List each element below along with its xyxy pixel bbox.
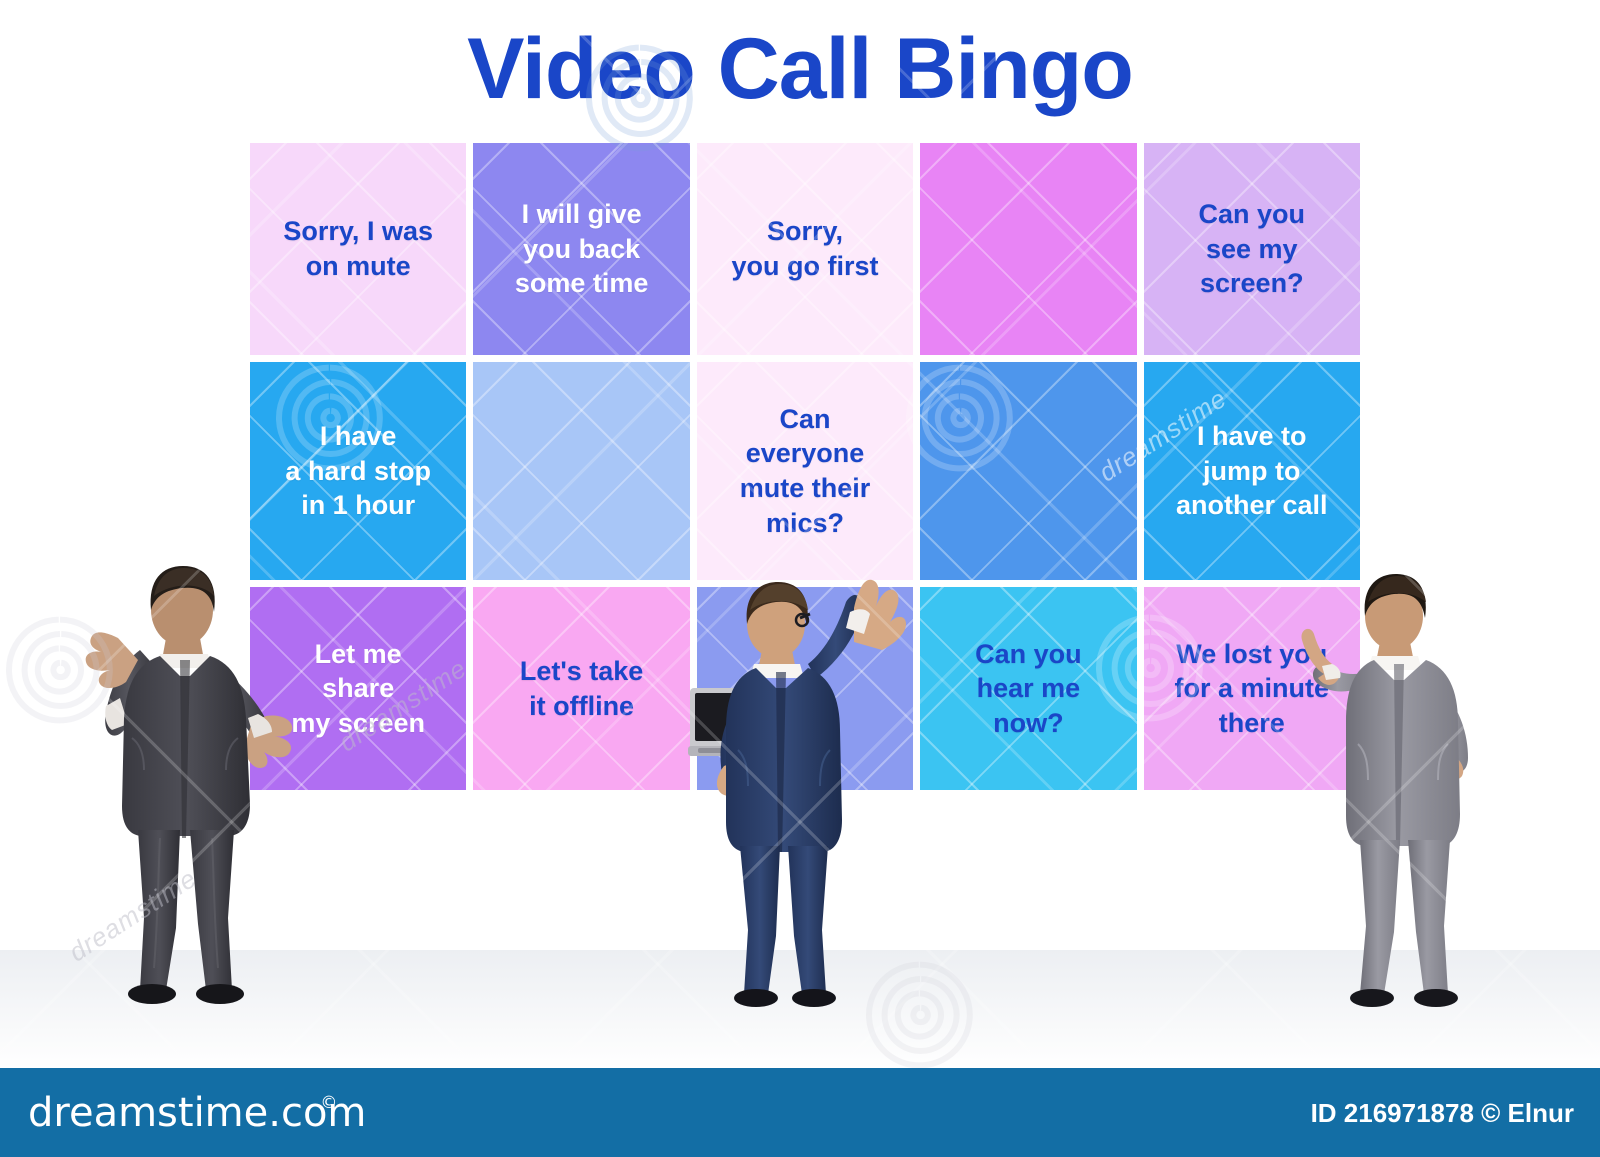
bingo-cell-text: Let's take it offline: [520, 654, 643, 723]
bingo-cell-text: I will give you back some time: [515, 197, 649, 301]
bingo-cell-text: Sorry, you go first: [731, 214, 878, 283]
image-id-label: ID 216971878 © Elnur: [1311, 1098, 1574, 1129]
bingo-cell[interactable]: Let's take it offline: [473, 587, 689, 790]
bingo-cell-text: I have to jump to another call: [1176, 419, 1328, 523]
footer-logo-text: dreamstime.com: [28, 1090, 366, 1136]
bingo-cell[interactable]: Sorry, I was on mute: [250, 143, 466, 355]
page-title: Video Call Bingo: [0, 26, 1600, 112]
dreamstime-logo: dreamstime.com©: [28, 1090, 383, 1136]
bingo-cell-text: Can you hear me now?: [975, 637, 1082, 741]
bingo-cell[interactable]: I will give you back some time: [473, 143, 689, 355]
bingo-cell[interactable]: Sorry, you go first: [697, 143, 913, 355]
bingo-cell[interactable]: Can you hear me now?: [920, 587, 1136, 790]
bingo-cell-text: Sorry, I was on mute: [283, 214, 433, 283]
bingo-cell[interactable]: [920, 143, 1136, 355]
bingo-cell[interactable]: [473, 362, 689, 580]
bingo-cell[interactable]: [920, 362, 1136, 580]
bingo-cell-text: I have a hard stop in 1 hour: [285, 419, 431, 523]
bingo-cell[interactable]: Can you see my screen?: [1144, 143, 1360, 355]
bingo-cell-text: Can you see my screen?: [1199, 197, 1306, 301]
registered-mark-icon: ©: [320, 1093, 337, 1113]
businessman-center: [668, 560, 918, 1010]
footer-bar: dreamstime.com© ID 216971878 © Elnur: [0, 1068, 1600, 1157]
bingo-poster: Video Call Bingo Sorry, I was on mute I …: [0, 0, 1600, 1157]
bingo-cell-text: Can everyone mute their mics?: [740, 402, 871, 540]
businessman-right: [1288, 548, 1508, 1010]
bingo-cell[interactable]: Can everyone mute their mics?: [697, 362, 913, 580]
businessman-left: [62, 538, 332, 1008]
